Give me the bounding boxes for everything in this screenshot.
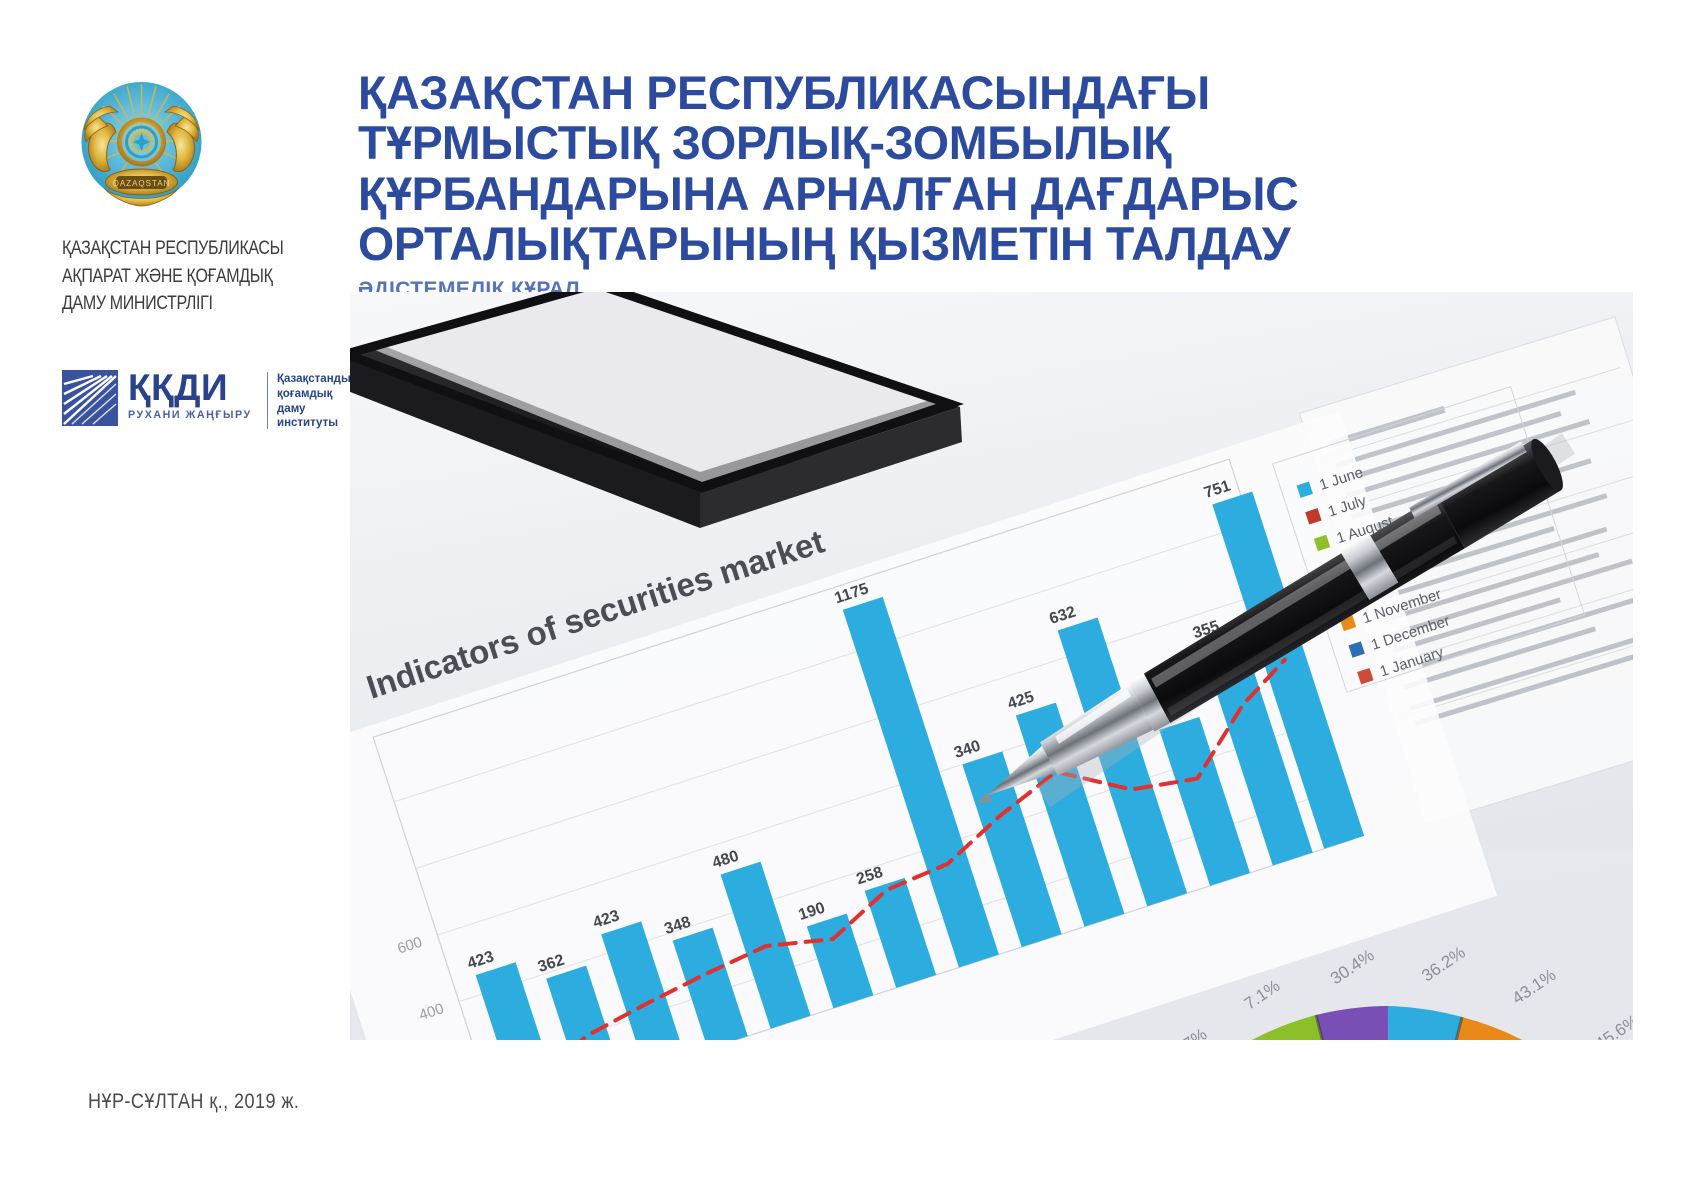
ministry-name-line-1: ҚАЗАҚСТАН РЕСПУБЛИКАСЫ — [62, 235, 308, 263]
institute-logo: ҚҚДИ РУХАНИ ЖАҢҒЫРУ Қазақстандық қоғамды… — [62, 370, 362, 431]
title-line-4: ОРТАЛЫҚТАРЫНЫҢ ҚЫЗМЕТІН ТАЛДАУ — [358, 219, 1596, 269]
document-cover-page: QAZAQSTAN ҚАЗАҚСТАН РЕСПУБЛИКАСЫ АҚПАРАТ… — [0, 0, 1684, 1191]
ministry-name: ҚАЗАҚСТАН РЕСПУБЛИКАСЫ АҚПАРАТ ЖӘНЕ ҚОҒА… — [62, 235, 308, 318]
page-title: ҚАЗАҚСТАН РЕСПУБЛИКАСЫНДАҒЫ ТҰРМЫСТЫҚ ЗО… — [358, 68, 1608, 302]
place-and-year: НҰР-СҰЛТАН қ., 2019 ж. — [88, 1090, 299, 1114]
institute-full-name-line-3: даму — [277, 402, 357, 417]
title-line-3: ҚҰРБАНДАРЫНА АРНАЛҒАН ДАҒДАРЫС — [358, 169, 1596, 219]
institute-tagline: РУХАНИ ЖАҢҒЫРУ — [128, 409, 252, 421]
kazakhstan-state-emblem-icon: QAZAQSTAN — [74, 78, 209, 213]
institute-full-name: Қазақстандық қоғамдық даму институты — [277, 370, 357, 431]
institute-abbreviation: ҚҚДИ — [128, 370, 256, 406]
institute-full-name-line-2: қоғамдық — [277, 387, 357, 402]
cover-photograph: 200 400 600 — [350, 292, 1633, 1040]
left-column: QAZAQSTAN ҚАЗАҚСТАН РЕСПУБЛИКАСЫ АҚПАРАТ… — [62, 78, 362, 431]
institute-full-name-line-4: институты — [277, 416, 357, 431]
institute-full-name-line-1: Қазақстандық — [277, 372, 357, 387]
ministry-name-line-2: АҚПАРАТ ЖӘНЕ ҚОҒАМДЫҚ — [62, 263, 308, 291]
institute-logo-mark-icon — [62, 370, 118, 426]
logo-divider — [267, 372, 269, 429]
institute-logo-wordmark: ҚҚДИ РУХАНИ ЖАҢҒЫРУ — [128, 370, 256, 421]
emblem-country-label: QAZAQSTAN — [113, 179, 171, 188]
title-line-1: ҚАЗАҚСТАН РЕСПУБЛИКАСЫНДАҒЫ — [358, 68, 1596, 118]
ministry-name-line-3: ДАМУ МИНИСТРЛІГІ — [62, 290, 308, 318]
title-line-2: ТҰРМЫСТЫҚ ЗОРЛЫҚ-ЗОМБЫЛЫҚ — [358, 118, 1596, 168]
